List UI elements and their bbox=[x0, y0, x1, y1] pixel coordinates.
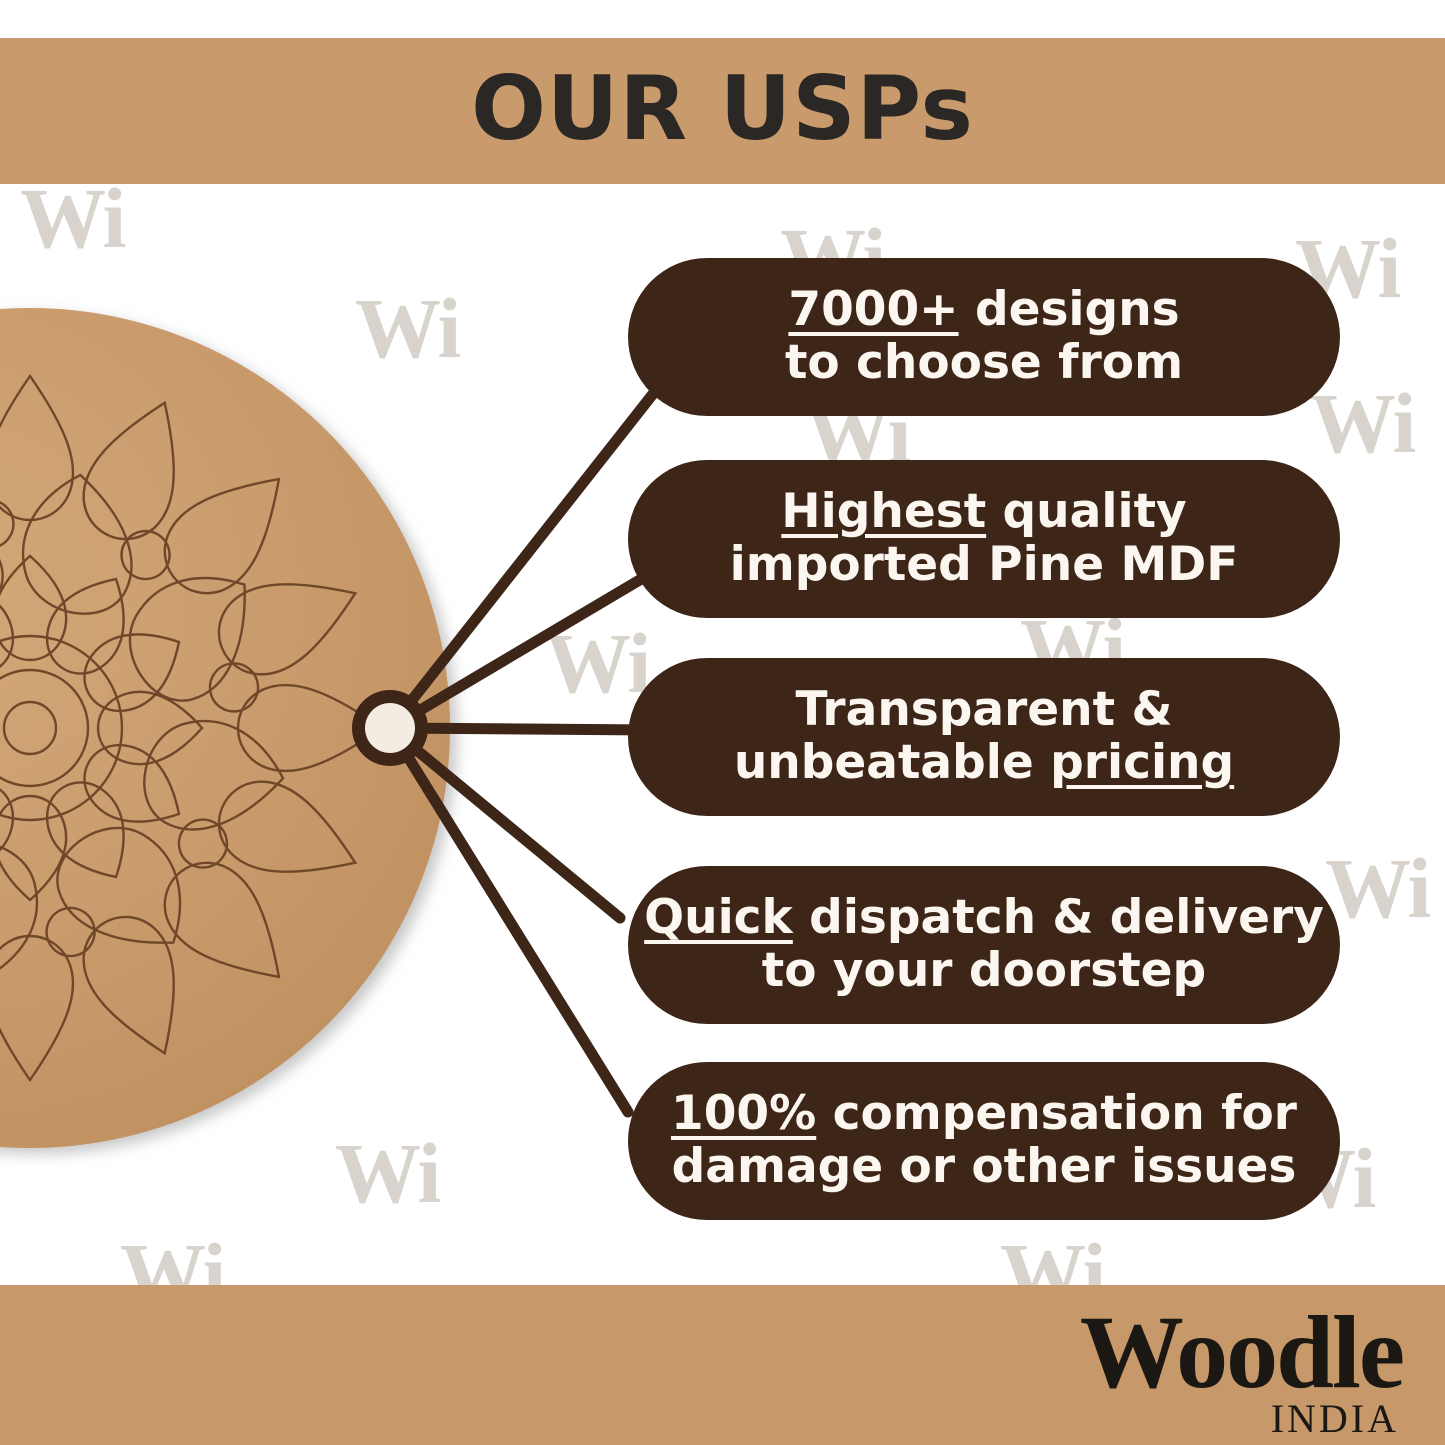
usp-card-pricing[interactable]: Transparent & unbeatable pricing bbox=[628, 658, 1340, 816]
usp-card-line-2: to choose from bbox=[785, 337, 1183, 390]
usp-line2-lead: unbeatable bbox=[734, 735, 1050, 790]
usp-card-line-2: imported Pine MDF bbox=[730, 539, 1239, 592]
usp-card-compensation[interactable]: 100% compensation for damage or other is… bbox=[628, 1062, 1340, 1220]
usp-card-line-2: to your doorstep bbox=[762, 945, 1206, 998]
usp-card-designs[interactable]: 7000+ designs to choose from bbox=[628, 258, 1340, 416]
usp-highlight-dispatch: Quick bbox=[644, 890, 793, 945]
infographic-page: Wi Wi Wi Wi Wi Wi Wi Wi Wi Wi Wi Wi Wi bbox=[0, 0, 1445, 1445]
usp-card-line-2: unbeatable pricing bbox=[734, 737, 1234, 790]
usp-card-dispatch[interactable]: Quick dispatch & delivery to your doorst… bbox=[628, 866, 1340, 1024]
usp-highlight-designs: 7000+ bbox=[788, 282, 958, 337]
usp-card-line-1: Highest quality bbox=[781, 486, 1186, 539]
usp-line1-rest: compensation for bbox=[816, 1086, 1297, 1141]
usp-card-line-1: Transparent & bbox=[796, 684, 1173, 737]
usp-card-line-1: 7000+ designs bbox=[788, 284, 1179, 337]
usp-card-quality[interactable]: Highest quality imported Pine MDF bbox=[628, 460, 1340, 618]
usp-line1-rest: dispatch & delivery bbox=[793, 890, 1324, 945]
usp-list: 7000+ designs to choose from Highest qua… bbox=[0, 0, 1445, 1445]
usp-highlight-quality: Highest bbox=[781, 484, 986, 539]
usp-highlight-pricing: pricing bbox=[1050, 735, 1234, 790]
usp-line1-rest: designs bbox=[959, 282, 1180, 337]
usp-card-line-2: damage or other issues bbox=[672, 1141, 1297, 1194]
usp-card-line-1: Quick dispatch & delivery bbox=[644, 892, 1324, 945]
usp-highlight-compensation: 100% bbox=[671, 1086, 816, 1141]
usp-line1-rest: quality bbox=[986, 484, 1187, 539]
usp-card-line-1: 100% compensation for bbox=[671, 1088, 1297, 1141]
